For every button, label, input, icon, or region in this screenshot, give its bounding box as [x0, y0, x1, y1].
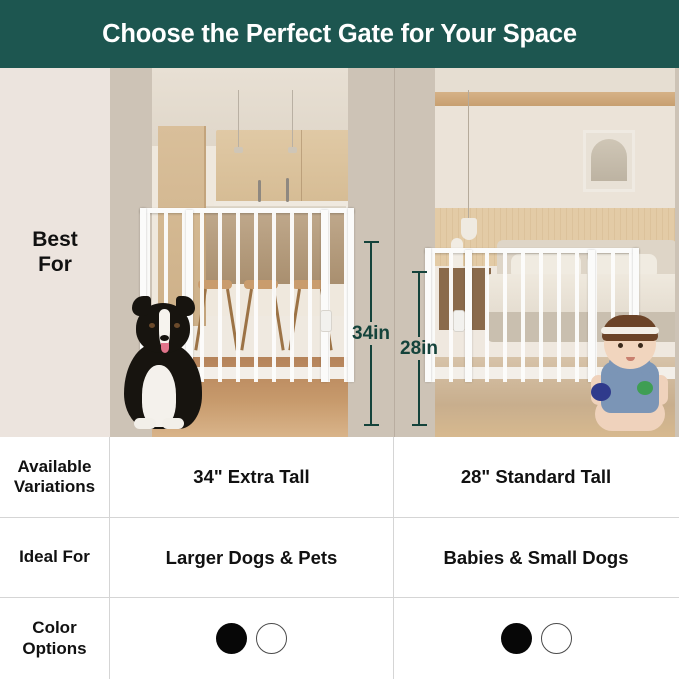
cell-variation-standard-tall: 28" Standard Tall — [394, 437, 678, 517]
row-label-best-for: Best For — [0, 68, 110, 437]
cell-variation-extra-tall: 34" Extra Tall — [110, 437, 394, 517]
upper-cabinets — [216, 130, 348, 208]
pendant-shade — [461, 218, 477, 240]
pendant-light-1 — [238, 90, 239, 148]
cell-colors-extra-tall — [110, 598, 394, 679]
color-swatch-black[interactable] — [216, 623, 247, 654]
baby-eye-right — [638, 343, 643, 348]
pendant-light-2 — [292, 90, 293, 148]
faucet — [258, 180, 261, 202]
row-label-line2: Options — [22, 639, 86, 658]
framed-wall-art — [583, 130, 635, 192]
dimension-cap-bottom — [412, 424, 427, 426]
color-swatch-white[interactable] — [256, 623, 287, 654]
baby-toy-blue — [591, 383, 611, 401]
row-label-line1: Available — [17, 457, 91, 476]
dimension-label-34in: 34in — [352, 322, 390, 345]
pendant-cord — [468, 90, 469, 218]
dog-tongue — [161, 343, 169, 353]
row-label-available-variations: Available Variations — [0, 437, 110, 517]
faucet-secondary — [286, 178, 289, 202]
baby-eye-left — [618, 343, 623, 348]
color-swatch-group-extra-tall — [216, 623, 287, 654]
row-label-line1: Best — [32, 228, 78, 251]
dog-ear-right — [176, 296, 195, 316]
dimension-line-upper — [418, 273, 420, 337]
row-label-ideal-for: Ideal For — [0, 518, 110, 597]
header-banner: Choose the Perfect Gate for Your Space — [0, 0, 679, 68]
baby-headband — [601, 327, 659, 334]
table-row: Ideal For Larger Dogs & Pets Babies & Sm… — [0, 518, 679, 598]
row-label-line1: Color — [32, 618, 76, 637]
row-label-color-options: Color Options — [0, 598, 110, 679]
border-collie-dog — [118, 297, 210, 429]
dog-eye-left — [149, 323, 155, 328]
seated-baby — [587, 313, 673, 431]
wall-right — [675, 68, 679, 437]
gate-latch — [453, 310, 465, 332]
color-swatch-white[interactable] — [541, 623, 572, 654]
dimension-label-28in: 28in — [400, 337, 438, 360]
dimension-line-lower — [370, 345, 372, 424]
cell-colors-standard-tall — [394, 598, 678, 679]
dog-paw-right — [162, 418, 184, 429]
color-swatch-black[interactable] — [501, 623, 532, 654]
page-title: Choose the Perfect Gate for Your Space — [102, 20, 577, 49]
row-label-line1: Ideal For — [19, 547, 90, 567]
dimension-line-upper — [370, 243, 372, 322]
baby-toy-green — [637, 381, 653, 395]
crown-molding — [435, 92, 675, 106]
table-row: Available Variations 34" Extra Tall 28" … — [0, 437, 679, 518]
color-swatch-group-standard-tall — [501, 623, 572, 654]
row-label-text: Best For — [32, 228, 78, 278]
gate-latch — [320, 310, 332, 332]
dog-paw-left — [134, 418, 156, 429]
dimension-callout-34in: 34in — [352, 241, 390, 426]
table-row: Color Options — [0, 598, 679, 679]
cell-ideal-for-standard-tall: Babies & Small Dogs — [394, 518, 678, 597]
spec-comparison-table: Available Variations 34" Extra Tall 28" … — [0, 437, 679, 679]
dog-ear-left — [132, 296, 151, 316]
ceiling — [435, 68, 675, 92]
row-label-line2: For — [38, 253, 72, 276]
row-label-line2: Variations — [14, 477, 95, 496]
gate-door-edge-right — [321, 210, 328, 382]
gate-door-edge-left — [465, 250, 472, 382]
dimension-cap-bottom — [364, 424, 379, 426]
hero-image-row: Best For — [0, 68, 679, 437]
dog-eye-right — [174, 323, 180, 328]
dimension-callout-28in: 28in — [400, 271, 438, 426]
dimension-line-lower — [418, 360, 420, 424]
cell-ideal-for-extra-tall: Larger Dogs & Pets — [110, 518, 394, 597]
dog-nose — [160, 335, 169, 341]
photo-divider — [394, 68, 395, 437]
comparison-infographic: Choose the Perfect Gate for Your Space B… — [0, 0, 679, 679]
